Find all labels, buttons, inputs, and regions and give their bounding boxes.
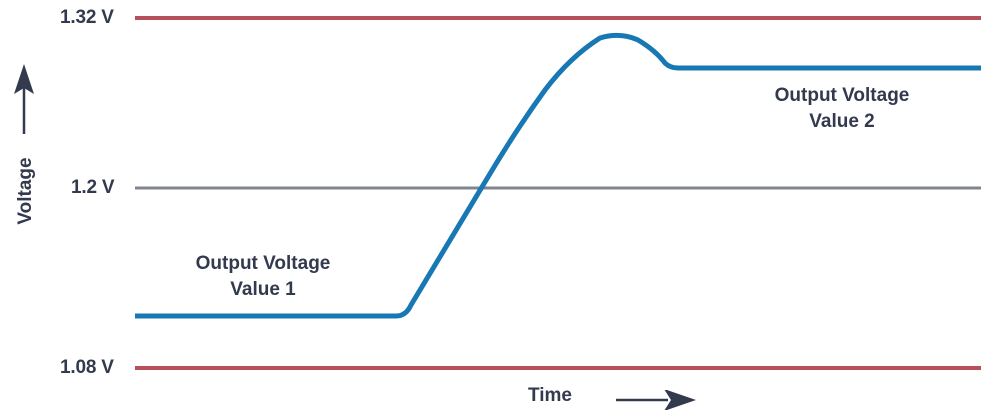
x-axis-label: Time — [528, 385, 572, 407]
annotation-value-1-line-2: Value 1 — [168, 277, 358, 303]
annotation-value-2-line-1: Output Voltage — [742, 83, 942, 109]
x-axis-group: Time — [520, 382, 700, 417]
y-axis-label: Voltage — [15, 121, 37, 261]
voltage-waveform-chart: 1.32 V 1.2 V 1.08 V Output Voltage Value… — [0, 0, 995, 417]
y-axis-group: Voltage — [4, 62, 48, 292]
annotation-output-voltage-value-2: Output Voltage Value 2 — [742, 83, 942, 135]
right-arrow-icon — [616, 390, 700, 410]
plot-area — [0, 0, 995, 417]
annotation-output-voltage-value-1: Output Voltage Value 1 — [168, 251, 358, 303]
annotation-value-1-line-1: Output Voltage — [168, 251, 358, 277]
annotation-value-2-line-2: Value 2 — [742, 109, 942, 135]
